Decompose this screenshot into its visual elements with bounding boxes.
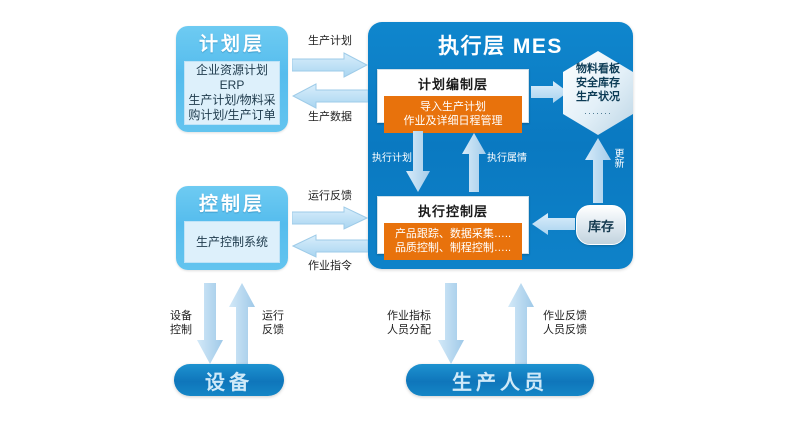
arrow-plan-to-mes: [292, 52, 368, 78]
arrow-staff-feedback-label: 作业反馈 人员反馈: [537, 309, 593, 337]
execution-module-head: 执行控制层: [378, 197, 528, 223]
arrow-staff-task-label: 作业指标 人员分配: [381, 309, 437, 337]
arrow-equipment-feedback-label: 运行 反馈: [258, 309, 288, 337]
arrow-equipment-control-label: 设备 控制: [166, 309, 196, 337]
arrow-inventory-update-up: [584, 138, 612, 204]
execution-module-body: 产品跟踪、数据采集….. 品质控制、制程控制…..: [384, 223, 522, 260]
equipment-down-line-2: 控制: [166, 323, 196, 337]
arrow-inventory-update-label: 更新: [610, 148, 624, 168]
control-layer-inner-box: 生产控制系统: [184, 221, 280, 263]
kanban-line-2: 安全库存: [563, 76, 633, 90]
equipment-label: 设备: [205, 366, 253, 395]
planning-layer-title: 计划层: [199, 32, 265, 58]
planning-layer-inner-box: 企业资源计划 ERP 生产计划/物料采 购计划/生产订单: [184, 61, 280, 125]
planning-module-body: 导入生产计划 作业及详细日程管理: [384, 96, 522, 133]
inventory-node[interactable]: 库存: [576, 205, 626, 245]
staff-node[interactable]: 生产人员: [406, 364, 594, 396]
arrow-execution-status-up: [461, 133, 487, 193]
staff-down-line-1: 作业指标: [381, 309, 437, 323]
execution-module-line-2: 品质控制、制程控制…..: [386, 241, 520, 255]
equipment-down-line-1: 设备: [166, 309, 196, 323]
arrow-mes-to-plan-label: 生产数据: [292, 110, 368, 124]
planning-line-4: 购计划/生产订单: [188, 108, 275, 123]
staff-down-line-2: 人员分配: [381, 323, 437, 337]
equipment-node[interactable]: 设备: [174, 364, 284, 396]
arrow-equipment-feedback-up: [228, 283, 256, 365]
execution-module-line-1: 产品跟踪、数据采集…..: [386, 227, 520, 241]
staff-up-line-1: 作业反馈: [537, 309, 593, 323]
planning-line-3: 生产计划/物料采: [188, 93, 275, 108]
planning-layer-card[interactable]: 计划层 企业资源计划 ERP 生产计划/物料采 购计划/生产订单: [176, 26, 288, 132]
control-line-1: 生产控制系统: [196, 235, 268, 250]
arrow-execution-plan-down-label: 执行计划: [372, 152, 406, 166]
planning-module-head: 计划编制层: [378, 70, 528, 96]
arrow-mes-to-control: [292, 234, 368, 258]
arrow-mes-to-control-label: 作业指令: [292, 259, 368, 273]
planning-module-box[interactable]: 计划编制层 导入生产计划 作业及详细日程管理: [377, 69, 529, 123]
arrow-plan-to-mes-label: 生产计划: [292, 34, 368, 48]
mes-architecture-diagram: 执行层 MES 计划层 企业资源计划 ERP 生产计划/物料采 购计划/生产订单…: [0, 0, 800, 422]
arrow-inventory-to-execution: [531, 212, 575, 236]
arrow-control-to-mes: [292, 206, 368, 230]
equipment-up-line-2: 反馈: [258, 323, 288, 337]
kanban-dots: ·······: [563, 108, 633, 118]
equipment-up-line-1: 运行: [258, 309, 288, 323]
control-layer-card[interactable]: 控制层 生产控制系统: [176, 186, 288, 270]
arrow-staff-feedback-up: [507, 283, 535, 365]
arrow-staff-task-down: [437, 283, 465, 365]
planning-line-1: 企业资源计划: [196, 63, 268, 78]
execution-module-box[interactable]: 执行控制层 产品跟踪、数据采集….. 品质控制、制程控制…..: [377, 196, 529, 254]
arrow-control-to-mes-label: 运行反馈: [292, 189, 368, 203]
arrow-execution-status-up-label: 执行属情: [487, 152, 527, 166]
planning-module-line-2: 作业及详细日程管理: [386, 114, 520, 128]
staff-up-line-2: 人员反馈: [537, 323, 593, 337]
kanban-line-3: 生产状况: [563, 90, 633, 104]
kanban-line-1: 物料看板: [563, 62, 633, 76]
control-layer-title: 控制层: [199, 192, 265, 218]
kanban-hexagon-text: 物料看板 安全库存 生产状况: [563, 62, 633, 104]
planning-module-line-1: 导入生产计划: [386, 100, 520, 114]
arrow-equipment-control-down: [196, 283, 224, 365]
planning-line-2: ERP: [220, 78, 245, 93]
inventory-label: 库存: [588, 216, 614, 235]
staff-label: 生产人员: [452, 366, 548, 395]
arrow-mes-to-plan: [292, 83, 368, 109]
